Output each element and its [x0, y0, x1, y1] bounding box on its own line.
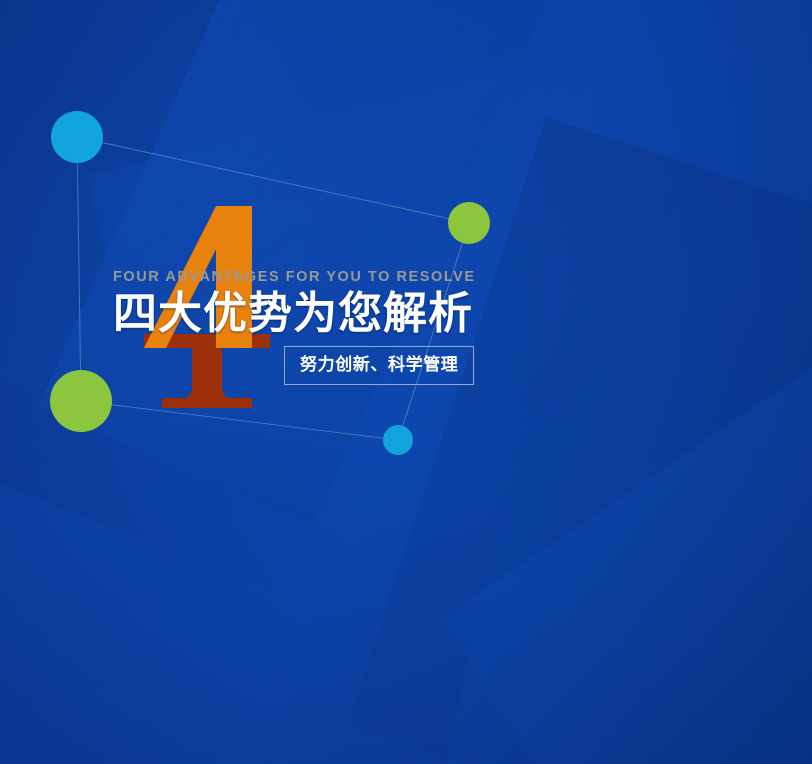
hero-text-block: FOUR ADVANTAGES FOR YOU TO RESOLVE 四大优势为… — [113, 268, 533, 385]
hero-badge-row: 努力创新、科学管理 — [113, 346, 533, 385]
edge-cyan-top-to-green-left — [77, 137, 81, 401]
node-green-left — [50, 370, 112, 432]
hero-eyebrow: FOUR ADVANTAGES FOR YOU TO RESOLVE — [113, 268, 533, 287]
node-cyan-bottom — [383, 425, 413, 455]
hero-headline: 四大优势为您解析 — [113, 288, 533, 340]
hero-badge: 努力创新、科学管理 — [284, 346, 474, 385]
node-cyan-top-left — [51, 111, 103, 163]
hero-banner: FOUR ADVANTAGES FOR YOU TO RESOLVE 四大优势为… — [0, 0, 812, 764]
node-green-right — [448, 202, 490, 244]
